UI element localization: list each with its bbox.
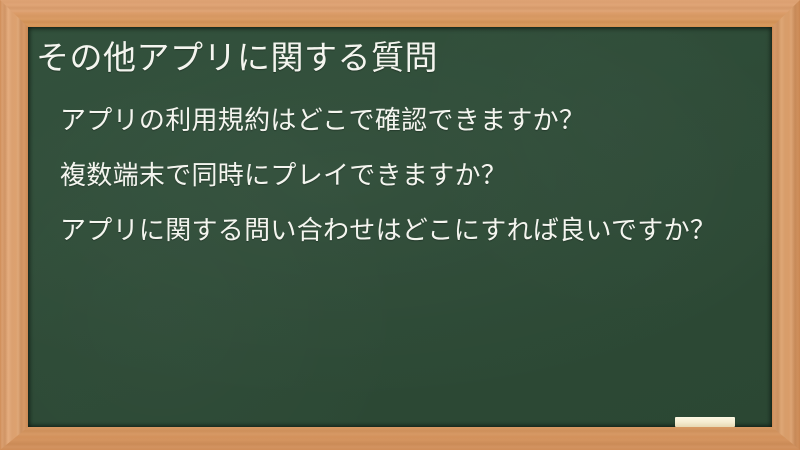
page-title: その他アプリに関する質問 [36,36,736,80]
chalk-stick-icon [675,417,735,427]
frame-rail-top [0,0,800,27]
chalkboard-surface: その他アプリに関する質問 アプリの利用規約はどこで確認できますか？ 複数端末で同… [28,27,772,427]
list-item: アプリの利用規約はどこで確認できますか？ [60,103,728,140]
chalkboard-slide: その他アプリに関する質問 アプリの利用規約はどこで確認できますか？ 複数端末で同… [0,0,800,450]
frame-rail-right [772,0,800,450]
list-item: 複数端末で同時にプレイできますか？ [60,158,728,195]
frame-rail-bottom [0,427,800,450]
frame-rail-left [0,0,28,450]
question-list: アプリの利用規約はどこで確認できますか？ 複数端末で同時にプレイできますか？ ア… [60,103,728,250]
list-item: アプリに関する問い合わせはどこにすれば良いですか？ [60,213,728,250]
